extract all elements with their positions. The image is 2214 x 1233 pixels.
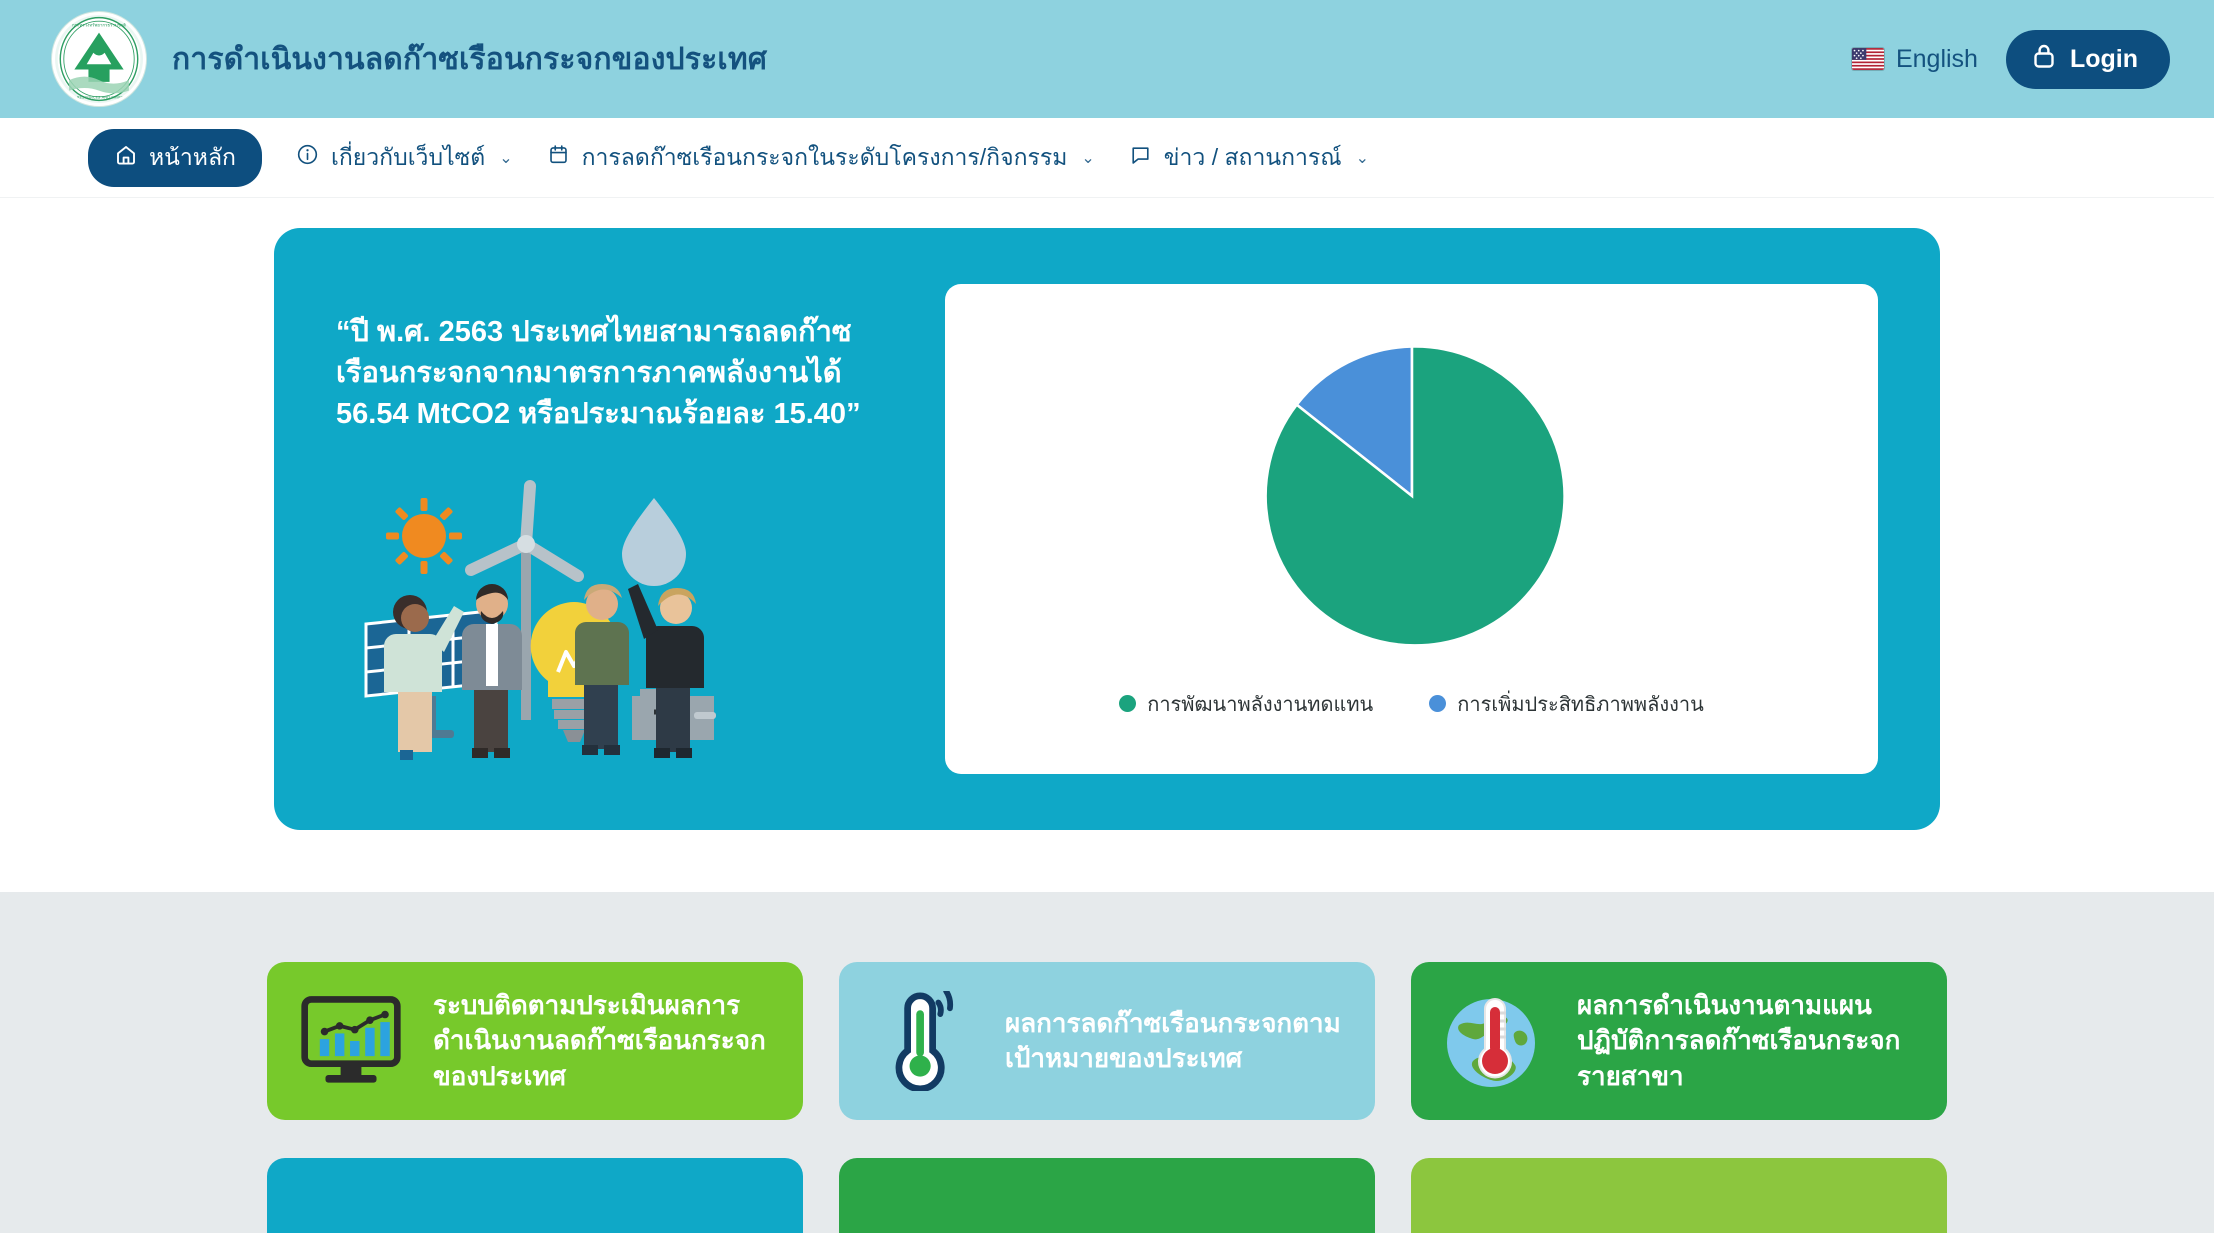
pie-chart[interactable] [1253,337,1571,660]
legend-label: การพัฒนาพลังงานทดแทน [1147,688,1373,720]
card-row2-item3[interactable] [1411,1158,1947,1233]
chart-legend: การพัฒนาพลังงานทดแทน การเพิ่มประสิทธิภาพ… [1119,688,1704,720]
home-icon [114,143,138,173]
card-row2-item1[interactable] [267,1158,803,1233]
legend-label: การเพิ่มประสิทธิภาพพลังงาน [1457,688,1704,720]
nav-item-project-level-label: การลดก๊าซเรือนกระจกในระดับโครงการ/กิจกรร… [582,140,1068,176]
nav-item-news[interactable]: ข่าว / สถานการณ์ ⌄ [1129,140,1369,176]
lock-icon [2032,43,2056,76]
monitor-bar-chart-icon [295,993,407,1089]
card-monitoring-system[interactable]: ระบบติดตามประเมินผลการดำเนินงานลดก๊าซเรื… [267,962,803,1120]
nav-item-about[interactable]: เกี่ยวกับเว็บไซต์ ⌄ [296,140,513,176]
card-sector-action-plan-results[interactable]: ผลการดำเนินงานตามแผนปฏิบัติการลดก๊าซเรือ… [1411,962,1947,1120]
brand[interactable]: กระทรวงทรัพยากรธรรมชาติ NATURAL RESOURCE… [52,12,767,106]
header-actions: English Login [1852,30,2170,89]
chevron-down-icon[interactable]: ⌄ [499,148,512,168]
legend-item[interactable]: การพัฒนาพลังงานทดแทน [1119,688,1373,720]
thermometer-signal-icon [867,991,979,1091]
chevron-down-icon[interactable]: ⌄ [1081,148,1094,168]
hero-section: “ปี พ.ศ. 2563 ประเทศไทยสามารถลดก๊าซเรือน… [0,198,2214,830]
card-row2-item2[interactable] [839,1158,1375,1233]
site-title: การดำเนินงานลดก๊าซเรือนกระจกของประเทศ [172,36,767,83]
chevron-down-icon[interactable]: ⌄ [1356,148,1369,168]
message-icon [1129,143,1152,172]
card-title: ผลการลดก๊าซเรือนกระจกตามเป้าหมายของประเท… [1005,1006,1347,1077]
us-flag-icon [1852,48,1884,70]
legend-color-swatch-blue [1429,695,1446,712]
legend-item[interactable]: การเพิ่มประสิทธิภาพพลังงาน [1429,688,1704,720]
login-label: Login [2070,45,2138,74]
svg-text:NATURAL RESOURCES AND ENVIRONM: NATURAL RESOURCES AND ENVIRONMENT [58,95,141,100]
hero-banner: “ปี พ.ศ. 2563 ประเทศไทยสามารถลดก๊าซเรือน… [274,228,1940,830]
nav-item-home[interactable]: หน้าหลัก [88,129,262,187]
site-header: กระทรวงทรัพยากรธรรมชาติ NATURAL RESOURCE… [0,0,2214,118]
language-label: English [1896,45,1978,74]
info-circle-icon [296,143,319,172]
card-title: ผลการดำเนินงานตามแผนปฏิบัติการลดก๊าซเรือ… [1577,988,1919,1094]
calendar-icon [547,143,570,172]
main-navigation: หน้าหลัก เกี่ยวกับเว็บไซต์ ⌄ การลดก๊าซเร… [0,118,2214,198]
hero-quote: “ปี พ.ศ. 2563 ประเทศไทยสามารถลดก๊าซเรือน… [336,312,901,436]
quick-links-section: ระบบติดตามประเมินผลการดำเนินงานลดก๊าซเรื… [0,892,2214,1233]
card-national-target-results[interactable]: ผลการลดก๊าซเรือนกระจกตามเป้าหมายของประเท… [839,962,1375,1120]
globe-thermometer-icon [1439,991,1551,1091]
renewable-energy-illustration-icon [336,474,901,769]
nav-home-label: หน้าหลัก [149,140,236,176]
svg-text:กระทรวงทรัพยากรธรรมชาติ: กระทรวงทรัพยากรธรรมชาติ [72,22,126,28]
legend-color-swatch-green [1119,695,1136,712]
nav-item-project-level[interactable]: การลดก๊าซเรือนกระจกในระดับโครงการ/กิจกรร… [547,140,1095,176]
energy-pie-chart-card: การพัฒนาพลังงานทดแทน การเพิ่มประสิทธิภาพ… [945,284,1878,774]
nav-item-about-label: เกี่ยวกับเว็บไซต์ [331,140,485,176]
hero-text-column: “ปี พ.ศ. 2563 ประเทศไทยสามารถลดก๊าซเรือน… [336,284,901,769]
nav-item-news-label: ข่าว / สถานการณ์ [1164,140,1342,176]
card-title: ระบบติดตามประเมินผลการดำเนินงานลดก๊าซเรื… [433,988,775,1094]
quick-links-grid: ระบบติดตามประเมินผลการดำเนินงานลดก๊าซเรื… [267,962,1947,1233]
language-switcher[interactable]: English [1852,45,1978,74]
ministry-logo-icon: กระทรวงทรัพยากรธรรมชาติ NATURAL RESOURCE… [52,12,146,106]
login-button[interactable]: Login [2006,30,2170,89]
